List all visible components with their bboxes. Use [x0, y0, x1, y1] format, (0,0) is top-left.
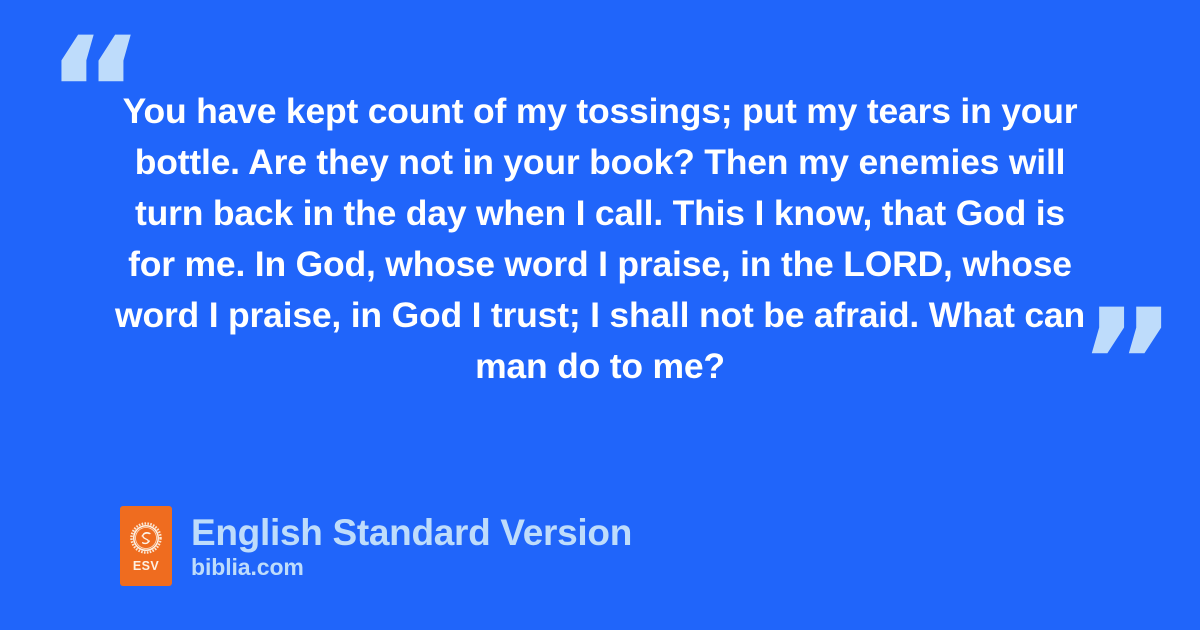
verse-text: You have kept count of my tossings; put …	[108, 86, 1092, 392]
close-quote-icon: ”	[1078, 290, 1175, 440]
site-url: biblia.com	[191, 554, 632, 581]
esv-seal-icon	[130, 522, 162, 554]
bible-version-name: English Standard Version	[191, 512, 632, 554]
bible-verse-share-card: “ You have kept count of my tossings; pu…	[0, 0, 1200, 630]
esv-wordmark: ESV	[133, 560, 159, 573]
attribution-text: English Standard Version biblia.com	[191, 512, 632, 581]
quote-block: You have kept count of my tossings; put …	[108, 86, 1092, 392]
attribution-footer: ESV English Standard Version biblia.com	[120, 506, 632, 586]
esv-logo: ESV	[120, 506, 172, 586]
